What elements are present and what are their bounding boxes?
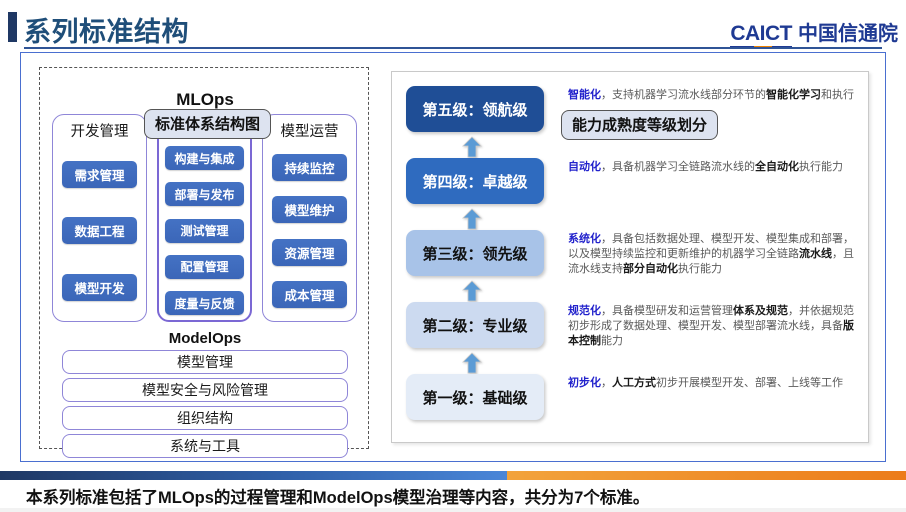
level-desc-b: 执行能力 bbox=[799, 161, 843, 173]
level-desc-bold: 体系及规范 bbox=[733, 305, 788, 317]
chip-item[interactable]: 模型维护 bbox=[272, 196, 347, 223]
level-description: 智能化，支持机器学习流水线部分环节的智能化学习和执行 bbox=[568, 88, 858, 103]
level-desc-b: 和执行 bbox=[821, 89, 854, 101]
logo-mark-text: CAICT bbox=[730, 22, 792, 46]
level-description: 自动化，具备机器学习全链路流水线的全自动化执行能力 bbox=[568, 160, 858, 175]
modelops-row[interactable]: 系统与工具 bbox=[62, 434, 348, 458]
level-desc-a: ，具备模型研发和运营管理 bbox=[601, 305, 733, 317]
level-description: 系统化，具备包括数据处理、模型开发、模型集成和部署，以及模型持续监控和更新维护的… bbox=[568, 232, 858, 278]
slide-bottom-edge bbox=[0, 508, 906, 512]
modelops-label: ModelOps bbox=[40, 330, 370, 347]
logo-chinese-name: 中国信通院 bbox=[798, 17, 898, 46]
level-description: 规范化，具备模型研发和运营管理体系及规范，并依据规范初步形成了数据处理、模型开发… bbox=[568, 304, 858, 350]
modelops-row[interactable]: 组织结构 bbox=[62, 406, 348, 430]
level-desc-b: 初步开展模型开发、部署、上线等工作 bbox=[656, 377, 843, 389]
chip-item[interactable]: 持续监控 bbox=[272, 154, 347, 181]
column-items: 构建与集成 部署与发布 测试管理 配置管理 度量与反馈 bbox=[159, 145, 250, 320]
level-keyword: 规范化 bbox=[568, 305, 601, 317]
maturity-level-row: 第三级：领先级 系统化，具备包括数据处理、模型开发、模型集成和部署，以及模型持续… bbox=[406, 230, 858, 278]
column-model-operations: 模型运营 持续监控 模型维护 资源管理 成本管理 bbox=[262, 114, 357, 322]
chip-item[interactable]: 需求管理 bbox=[62, 161, 137, 188]
level-desc-bold2: 部分自动化 bbox=[623, 263, 678, 275]
column-items: 持续监控 模型维护 资源管理 成本管理 bbox=[263, 144, 356, 321]
caict-logo: CAICT 中国信通院 bbox=[730, 17, 898, 46]
title-accent-bar bbox=[8, 12, 17, 42]
level-box[interactable]: 第五级：领航级 bbox=[406, 86, 544, 132]
level-keyword: 自动化 bbox=[568, 161, 601, 173]
level-box[interactable]: 第二级：专业级 bbox=[406, 302, 544, 348]
up-arrow-icon bbox=[462, 352, 482, 374]
level-box[interactable]: 第一级：基础级 bbox=[406, 374, 544, 420]
level-desc-a: ，支持机器学习流水线部分环节的 bbox=[601, 89, 766, 101]
slide-canvas: 系列标准结构 CAICT 中国信通院 MLOps 开发管理 需求管理 数据工程 … bbox=[0, 0, 906, 512]
footer-gradient-bar bbox=[0, 471, 906, 480]
logo-mark-label: CAICT bbox=[730, 22, 792, 45]
mlops-label: MLOps bbox=[40, 90, 370, 110]
page-title: 系列标准结构 bbox=[24, 10, 189, 49]
chip-item[interactable]: 配置管理 bbox=[165, 255, 244, 279]
maturity-level-row: 第一级：基础级 初步化，人工方式初步开展模型开发、部署、上线等工作 bbox=[406, 374, 858, 420]
level-box[interactable]: 第四级：卓越级 bbox=[406, 158, 544, 204]
level-desc-bold: 人工方式 bbox=[612, 377, 656, 389]
up-arrow-icon bbox=[462, 208, 482, 230]
maturity-level-row: 第四级：卓越级 自动化，具备机器学习全链路流水线的全自动化执行能力 bbox=[406, 158, 858, 204]
chip-item[interactable]: 模型开发 bbox=[62, 274, 137, 301]
level-keyword: 初步化 bbox=[568, 377, 601, 389]
level-desc-c: 执行能力 bbox=[678, 263, 722, 275]
chip-item[interactable]: 资源管理 bbox=[272, 239, 347, 266]
right-panel-badge: 能力成熟度等级划分 bbox=[561, 110, 718, 140]
maturity-level-row: 第二级：专业级 规范化，具备模型研发和运营管理体系及规范，并依据规范初步形成了数… bbox=[406, 302, 858, 350]
chip-item[interactable]: 部署与发布 bbox=[165, 182, 244, 206]
chip-item[interactable]: 测试管理 bbox=[165, 219, 244, 243]
level-desc-a: ，具备机器学习全链路流水线的 bbox=[601, 161, 755, 173]
level-desc-bold: 全自动化 bbox=[755, 161, 799, 173]
left-panel-badge: 标准体系结构图 bbox=[144, 109, 271, 139]
chip-item[interactable]: 成本管理 bbox=[272, 281, 347, 308]
modelops-row[interactable]: 模型安全与风险管理 bbox=[62, 378, 348, 402]
level-desc-bold: 智能化学习 bbox=[766, 89, 821, 101]
chip-item[interactable]: 度量与反馈 bbox=[165, 291, 244, 315]
column-title: 开发管理 bbox=[71, 120, 129, 141]
level-desc-a: ， bbox=[601, 377, 612, 389]
footer-bar-orange bbox=[507, 471, 906, 480]
up-arrow-icon bbox=[462, 136, 482, 158]
column-model-delivery: 模型交付 构建与集成 部署与发布 测试管理 配置管理 度量与反馈 bbox=[157, 114, 252, 322]
column-items: 需求管理 数据工程 模型开发 bbox=[53, 144, 146, 321]
level-keyword: 系统化 bbox=[568, 233, 601, 245]
level-desc-c: 能力 bbox=[601, 335, 623, 347]
footer-bar-blue bbox=[0, 471, 507, 480]
modelops-row[interactable]: 模型管理 bbox=[62, 350, 348, 374]
level-desc-bold: 流水线 bbox=[799, 248, 832, 260]
chip-item[interactable]: 数据工程 bbox=[62, 217, 137, 244]
column-title: 模型运营 bbox=[281, 120, 339, 141]
column-development-management: 开发管理 需求管理 数据工程 模型开发 bbox=[52, 114, 147, 322]
level-box[interactable]: 第三级：领先级 bbox=[406, 230, 544, 276]
header-divider bbox=[24, 47, 882, 49]
slide-header: 系列标准结构 CAICT 中国信通院 bbox=[0, 0, 906, 50]
footer-note: 本系列标准包括了MLOps的过程管理和ModelOps模型治理等内容，共分为7个… bbox=[26, 484, 649, 508]
content-frame: MLOps 开发管理 需求管理 数据工程 模型开发 模型交付 构建与集成 部署与… bbox=[20, 52, 886, 462]
up-arrow-icon bbox=[462, 280, 482, 302]
level-keyword: 智能化 bbox=[568, 89, 601, 101]
level-description: 初步化，人工方式初步开展模型开发、部署、上线等工作 bbox=[568, 376, 858, 391]
chip-item[interactable]: 构建与集成 bbox=[165, 146, 244, 170]
